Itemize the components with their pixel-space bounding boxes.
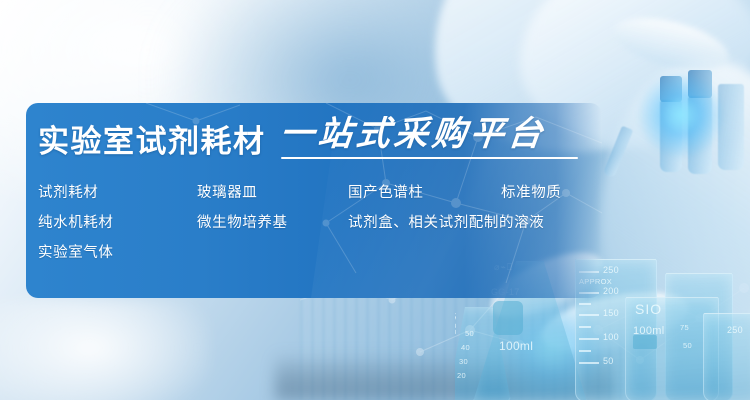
- beaker-large-label-200: 200: [603, 286, 619, 296]
- headline-primary: 实验室试剂耗材: [38, 126, 266, 157]
- beaker-sio-tick-75: 75: [680, 323, 689, 332]
- beaker-sio-label-patch: [633, 335, 657, 349]
- category-item-laboratory-gases[interactable]: 实验室气体: [38, 241, 114, 262]
- category-row-3: 实验室气体: [38, 241, 598, 271]
- headline-calligraphy-wrap: 一站式采购平台: [280, 117, 546, 157]
- beaker-large-tick-50: [579, 362, 599, 364]
- beaker-large-tick-150: [579, 314, 599, 316]
- beaker-large-tick-100: [579, 338, 599, 340]
- flask-left-tick-30: 30: [459, 357, 468, 366]
- beaker-large-label-150: 150: [603, 308, 619, 318]
- headline-calligraphy: 一站式采购平台: [278, 117, 548, 151]
- category-row-1: 试剂耗材 玻璃器皿 国产色谱柱 标准物质: [38, 181, 598, 211]
- flask-left-tick-50: 50: [465, 329, 474, 338]
- flask-main-label-patch: [493, 301, 523, 335]
- beaker-large-label-250: 250: [603, 265, 619, 275]
- promo-banner: 50 40 30 20 GG-17 ⌀⌁⎕ GG-17 100ml 250 AP…: [0, 0, 750, 400]
- category-item-reagent-consumables[interactable]: 试剂耗材: [38, 181, 98, 202]
- headline-row: 实验室试剂耗材 一站式采购平台: [38, 117, 546, 157]
- category-item-domestic-chromatography-column[interactable]: 国产色谱柱: [348, 181, 424, 202]
- category-item-reference-materials[interactable]: 标准物质: [501, 181, 561, 202]
- flask-left-brand: GG-17: [455, 311, 458, 335]
- category-item-glassware[interactable]: 玻璃器皿: [197, 181, 257, 202]
- category-item-microbial-culture-media[interactable]: 微生物培养基: [197, 211, 288, 232]
- beaker-large-minor-tick-3: [579, 350, 591, 352]
- beaker-large-minor-tick-2: [579, 326, 591, 328]
- beaker-large-label-100: 100: [603, 332, 619, 342]
- beaker-large-minor-tick-1: [579, 303, 591, 305]
- beaker-sio-tick-50: 50: [683, 341, 692, 350]
- flask-left-tick-20: 20: [457, 371, 466, 380]
- category-list: 试剂耗材 玻璃器皿 国产色谱柱 标准物质 纯水机耗材 微生物培养基 试剂盒、相关…: [38, 181, 598, 271]
- headline-panel: 实验室试剂耗材 一站式采购平台 试剂耗材 玻璃器皿 国产色谱柱 标准物质 纯水机…: [26, 103, 602, 298]
- category-row-2: 纯水机耗材 微生物培养基 试剂盒、相关试剂配制的溶液: [38, 211, 598, 241]
- beaker-large-label-50: 50: [603, 356, 614, 366]
- vial-glow-highlight: [636, 70, 726, 160]
- beaker-sio-brand: SIO: [635, 301, 662, 317]
- beaker-right-volume: 250: [727, 325, 743, 335]
- flask-left-tick-40: 40: [461, 343, 470, 352]
- category-item-reagent-kits-solutions[interactable]: 试剂盒、相关试剂配制的溶液: [348, 211, 544, 232]
- category-item-water-purifier-consumables[interactable]: 纯水机耗材: [38, 211, 114, 232]
- headline-underline: [281, 157, 578, 160]
- flask-main-volume: 100ml: [499, 339, 533, 353]
